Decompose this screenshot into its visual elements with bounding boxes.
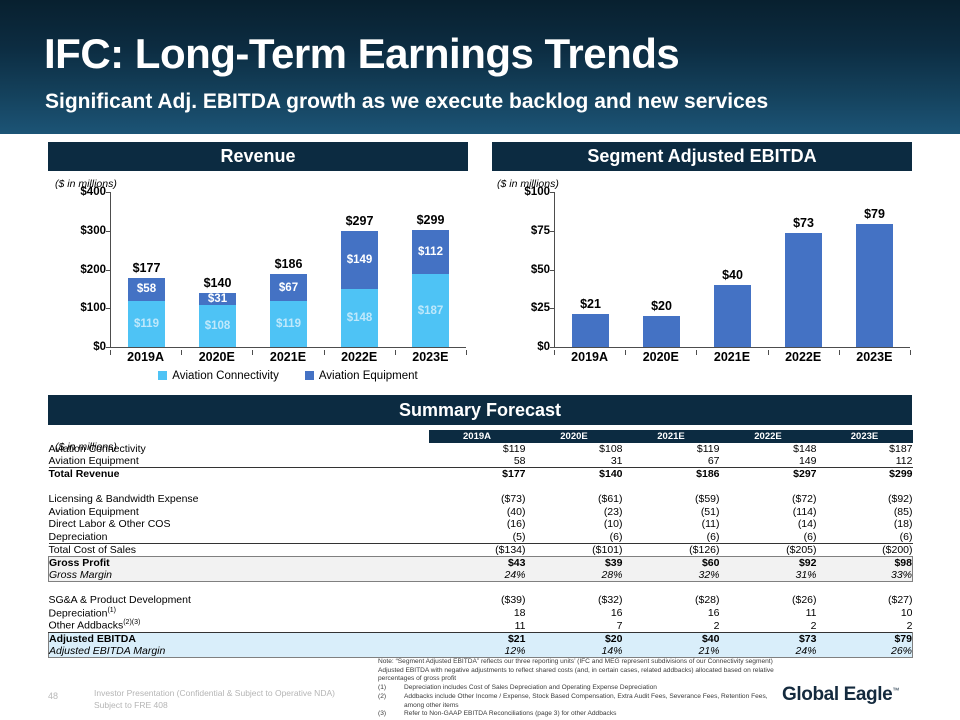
table-cell: (18) bbox=[817, 518, 913, 531]
table-row-label: SG&A & Product Development bbox=[49, 594, 429, 607]
table-cell: 31% bbox=[720, 569, 817, 582]
footnote-item: (1)Depreciation includes Cost of Sales D… bbox=[378, 684, 778, 693]
revenue-bar-segment: $31 bbox=[199, 293, 237, 305]
footnote-text: Depreciation includes Cost of Sales Depr… bbox=[404, 684, 657, 693]
table-spacer-cell bbox=[429, 480, 526, 493]
footer-line-1: Investor Presentation (Confidential & Su… bbox=[94, 687, 335, 699]
table-cell: 31 bbox=[526, 455, 623, 468]
revenue-bar[interactable]: $140$31$108 bbox=[199, 293, 237, 347]
ebitda-x-tick-mark bbox=[768, 350, 769, 355]
revenue-y-tick: $0 bbox=[93, 341, 106, 353]
ebitda-x-axis: 2019A2020E2021E2022E2023E bbox=[554, 350, 910, 368]
revenue-y-tick: $300 bbox=[80, 225, 106, 237]
ebitda-bar-total-label: $40 bbox=[714, 268, 752, 282]
revenue-bar-segment: $149 bbox=[341, 231, 379, 289]
table-row: Licensing & Bandwidth Expense($73)($61)(… bbox=[49, 493, 913, 506]
table-row-label: Gross Margin bbox=[49, 569, 429, 582]
ebitda-x-tick-mark bbox=[910, 350, 911, 355]
table-cell: $297 bbox=[720, 468, 817, 481]
ebitda-y-tick-mark bbox=[550, 231, 555, 232]
ebitda-y-tick: $25 bbox=[531, 302, 550, 314]
ebitda-bar[interactable]: $40 bbox=[714, 285, 752, 347]
table-cell: 7 bbox=[526, 619, 623, 632]
table-cell: 16 bbox=[623, 607, 720, 620]
table-cell: $79 bbox=[817, 632, 913, 645]
table-cell: $108 bbox=[526, 443, 623, 456]
global-eagle-logo: Global Eagle™ bbox=[782, 684, 899, 706]
ebitda-bar-total-label: $73 bbox=[785, 216, 823, 230]
revenue-bar-group: $140$31$108 bbox=[184, 192, 251, 347]
revenue-bar-segment: $67 bbox=[270, 274, 308, 300]
page-title: IFC: Long-Term Earnings Trends bbox=[44, 30, 679, 78]
revenue-bar-segment: $148 bbox=[341, 289, 379, 347]
table-row: SG&A & Product Development($39)($32)($28… bbox=[49, 594, 913, 607]
legend-swatch-icon bbox=[305, 371, 314, 380]
table-row: Aviation Connectivity$119$108$119$148$18… bbox=[49, 443, 913, 456]
table-cell: $98 bbox=[817, 556, 913, 569]
table-header-spacer bbox=[49, 430, 429, 443]
table-row-label: Total Revenue bbox=[49, 468, 429, 481]
ebitda-y-tick: $100 bbox=[524, 186, 550, 198]
table-row: Total Revenue$177$140$186$297$299 bbox=[49, 468, 913, 481]
table-cell: 18 bbox=[429, 607, 526, 620]
revenue-x-tick: 2022E bbox=[325, 350, 393, 368]
logo-trademark: ™ bbox=[892, 688, 899, 695]
table-row: Direct Labor & Other COS(16)(10)(11)(14)… bbox=[49, 518, 913, 531]
table-row-label: Adjusted EBITDA bbox=[49, 632, 429, 645]
revenue-x-tick-mark bbox=[324, 350, 325, 355]
footer-line-2: Subject to FRE 408 bbox=[94, 699, 335, 711]
table-row-label: Total Cost of Sales bbox=[49, 543, 429, 556]
revenue-legend-item[interactable]: Aviation Equipment bbox=[305, 370, 418, 382]
revenue-y-tick-mark bbox=[106, 192, 111, 193]
revenue-x-tick: 2019A bbox=[112, 350, 180, 368]
revenue-x-tick-mark bbox=[466, 350, 467, 355]
table-cell: $119 bbox=[623, 443, 720, 456]
revenue-bar-total-label: $186 bbox=[270, 257, 308, 271]
table-cell: $21 bbox=[429, 632, 526, 645]
table-cell: (14) bbox=[720, 518, 817, 531]
page-subtitle: Significant Adj. EBITDA growth as we exe… bbox=[45, 90, 768, 114]
table-cell: 11 bbox=[429, 619, 526, 632]
revenue-y-tick: $400 bbox=[80, 186, 106, 198]
table-row: Other Addbacks(2)(3)117222 bbox=[49, 619, 913, 632]
table-cell: (6) bbox=[720, 531, 817, 544]
revenue-legend-label: Aviation Equipment bbox=[319, 370, 418, 382]
ebitda-bar-group: $21 bbox=[557, 192, 624, 347]
ebitda-bar-total-label: $79 bbox=[856, 207, 894, 221]
ebitda-y-tick-mark bbox=[550, 308, 555, 309]
footnote-note: Note: “Segment Adjusted EBITDA” reflects… bbox=[378, 658, 778, 684]
table-cell: ($200) bbox=[817, 543, 913, 556]
ebitda-bar-group: $79 bbox=[841, 192, 908, 347]
ebitda-x-tick: 2019A bbox=[556, 350, 624, 368]
table-column-header: 2019A bbox=[429, 430, 526, 443]
table-spacer-cell bbox=[817, 480, 913, 493]
table-cell: (16) bbox=[429, 518, 526, 531]
table-cell: (114) bbox=[720, 506, 817, 519]
table-cell: $20 bbox=[526, 632, 623, 645]
revenue-bar[interactable]: $297$149$148 bbox=[341, 231, 379, 347]
ebitda-x-tick: 2022E bbox=[769, 350, 837, 368]
ebitda-bar-group: $40 bbox=[699, 192, 766, 347]
revenue-bar-group: $297$149$148 bbox=[326, 192, 393, 347]
table-cell: 14% bbox=[526, 645, 623, 658]
revenue-bars: $177$58$119$140$31$108$186$67$119$297$14… bbox=[111, 192, 466, 347]
table-spacer-cell bbox=[720, 480, 817, 493]
table-cell: 10 bbox=[817, 607, 913, 620]
table-cell: 33% bbox=[817, 569, 913, 582]
table-cell: 24% bbox=[429, 569, 526, 582]
revenue-bar-total-label: $140 bbox=[199, 276, 237, 290]
ebitda-x-tick-mark bbox=[625, 350, 626, 355]
logo-text: Global Eagle bbox=[782, 684, 892, 705]
ebitda-x-tick-mark bbox=[696, 350, 697, 355]
revenue-x-tick: 2023E bbox=[397, 350, 465, 368]
summary-forecast-table: 2019A2020E2021E2022E2023EAviation Connec… bbox=[48, 430, 912, 658]
ebitda-bars: $21$20$40$73$79 bbox=[555, 192, 910, 347]
summary-table-body: 2019A2020E2021E2022E2023EAviation Connec… bbox=[49, 430, 913, 658]
table-cell: (51) bbox=[623, 506, 720, 519]
ebitda-chart: $21$20$40$73$79 $0$25$50$75$100 2019A202… bbox=[492, 192, 916, 392]
table-row: Aviation Equipment583167149112 bbox=[49, 455, 913, 468]
table-column-header: 2023E bbox=[817, 430, 913, 443]
ebitda-bar[interactable]: $21 bbox=[572, 314, 610, 347]
footnote-marker: (1) bbox=[107, 607, 116, 614]
page-number: 48 bbox=[48, 691, 58, 701]
revenue-bar[interactable]: $177$58$119 bbox=[128, 278, 166, 347]
table-cell: ($26) bbox=[720, 594, 817, 607]
revenue-bar-segment: $112 bbox=[412, 230, 450, 274]
revenue-x-tick: 2021E bbox=[254, 350, 322, 368]
summary-forecast-title: Summary Forecast bbox=[48, 395, 912, 425]
table-cell: ($28) bbox=[623, 594, 720, 607]
table-spacer-cell bbox=[623, 582, 720, 595]
table-cell: (6) bbox=[526, 531, 623, 544]
revenue-bar-group: $299$112$187 bbox=[397, 192, 464, 347]
table-row-label: Depreciation(1) bbox=[49, 607, 429, 620]
footnote-text: Refer to Non-GAAP EBITDA Reconciliations… bbox=[404, 710, 616, 719]
table-row-label: Gross Profit bbox=[49, 556, 429, 569]
revenue-bar-total-label: $299 bbox=[412, 213, 450, 227]
table-cell: 2 bbox=[817, 619, 913, 632]
footnote-text: Addbacks include Other Income / Expense,… bbox=[404, 693, 778, 710]
revenue-x-axis: 2019A2020E2021E2022E2023E bbox=[110, 350, 466, 368]
table-cell: 26% bbox=[817, 645, 913, 658]
table-column-header: 2021E bbox=[623, 430, 720, 443]
table-row: Aviation Equipment(40)(23)(51)(114)(85) bbox=[49, 506, 913, 519]
ebitda-y-tick: $0 bbox=[537, 341, 550, 353]
revenue-x-tick-mark bbox=[395, 350, 396, 355]
table-cell: ($61) bbox=[526, 493, 623, 506]
table-row-label: Licensing & Bandwidth Expense bbox=[49, 493, 429, 506]
table-cell: 28% bbox=[526, 569, 623, 582]
ebitda-y-tick-mark bbox=[550, 192, 555, 193]
table-cell: $40 bbox=[623, 632, 720, 645]
table-cell: ($32) bbox=[526, 594, 623, 607]
ebitda-bar[interactable]: $79 bbox=[856, 224, 894, 347]
table-cell: 112 bbox=[817, 455, 913, 468]
table-cell: (40) bbox=[429, 506, 526, 519]
ebitda-bar-segment bbox=[856, 224, 894, 347]
table-row: Adjusted EBITDA$21$20$40$73$79 bbox=[49, 632, 913, 645]
ebitda-plot-area: $21$20$40$73$79 $0$25$50$75$100 bbox=[554, 192, 910, 348]
footnote-number: (1) bbox=[378, 684, 404, 693]
table-cell: $92 bbox=[720, 556, 817, 569]
table-cell: ($92) bbox=[817, 493, 913, 506]
table-cell: ($72) bbox=[720, 493, 817, 506]
ebitda-y-tick-mark bbox=[550, 347, 555, 348]
revenue-plot-area: $177$58$119$140$31$108$186$67$119$297$14… bbox=[110, 192, 466, 348]
ebitda-x-tick: 2023E bbox=[841, 350, 909, 368]
table-spacer-row bbox=[49, 480, 913, 493]
ebitda-bar-total-label: $20 bbox=[643, 299, 681, 313]
revenue-bar-group: $177$58$119 bbox=[113, 192, 180, 347]
table-cell: ($134) bbox=[429, 543, 526, 556]
revenue-legend-label: Aviation Connectivity bbox=[172, 370, 279, 382]
revenue-bar-total-label: $297 bbox=[341, 214, 379, 228]
ebitda-y-tick: $75 bbox=[531, 225, 550, 237]
revenue-bar-segment: $119 bbox=[128, 301, 166, 347]
ebitda-bar-group: $20 bbox=[628, 192, 695, 347]
table-cell: (10) bbox=[526, 518, 623, 531]
table-cell: $43 bbox=[429, 556, 526, 569]
table-cell: ($101) bbox=[526, 543, 623, 556]
revenue-bar-segment: $58 bbox=[128, 278, 166, 301]
revenue-bar[interactable]: $299$112$187 bbox=[412, 230, 450, 347]
table-cell: $119 bbox=[429, 443, 526, 456]
table-row: Gross Margin24%28%32%31%33% bbox=[49, 569, 913, 582]
revenue-y-tick-mark bbox=[106, 270, 111, 271]
ebitda-bar-segment bbox=[785, 233, 823, 347]
revenue-bar-segment: $119 bbox=[270, 301, 308, 347]
table-spacer-cell bbox=[526, 582, 623, 595]
table-cell: 12% bbox=[429, 645, 526, 658]
ebitda-x-tick: 2020E bbox=[627, 350, 695, 368]
table-cell: (85) bbox=[817, 506, 913, 519]
table-cell: 32% bbox=[623, 569, 720, 582]
table-cell: ($27) bbox=[817, 594, 913, 607]
table-cell: $186 bbox=[623, 468, 720, 481]
table-cell: 11 bbox=[720, 607, 817, 620]
ebitda-bar-segment bbox=[714, 285, 752, 347]
table-cell: $73 bbox=[720, 632, 817, 645]
revenue-bar-total-label: $177 bbox=[128, 261, 166, 275]
revenue-x-tick: 2020E bbox=[183, 350, 251, 368]
ebitda-x-tick: 2021E bbox=[698, 350, 766, 368]
table-cell: 21% bbox=[623, 645, 720, 658]
table-column-header: 2022E bbox=[720, 430, 817, 443]
ebitda-bar-group: $73 bbox=[770, 192, 837, 347]
table-spacer-cell bbox=[817, 582, 913, 595]
table-cell: 58 bbox=[429, 455, 526, 468]
table-cell: $39 bbox=[526, 556, 623, 569]
ebitda-x-tick-mark bbox=[554, 350, 555, 355]
table-cell: (5) bbox=[429, 531, 526, 544]
table-spacer-cell bbox=[623, 480, 720, 493]
revenue-panel-title: Revenue bbox=[48, 142, 468, 171]
revenue-bar[interactable]: $186$67$119 bbox=[270, 274, 308, 347]
table-cell: $299 bbox=[817, 468, 913, 481]
footnote-item: (3)Refer to Non-GAAP EBITDA Reconciliati… bbox=[378, 710, 778, 719]
revenue-chart: $177$58$119$140$31$108$186$67$119$297$14… bbox=[48, 192, 472, 392]
revenue-x-tick-mark bbox=[181, 350, 182, 355]
footnote-number: (3) bbox=[378, 710, 404, 719]
revenue-bar-segment: $108 bbox=[199, 305, 237, 347]
footnotes: Note: “Segment Adjusted EBITDA” reflects… bbox=[378, 658, 778, 719]
footnote-item: (2)Addbacks include Other Income / Expen… bbox=[378, 693, 778, 710]
table-cell: (23) bbox=[526, 506, 623, 519]
table-cell: $177 bbox=[429, 468, 526, 481]
table-cell: 67 bbox=[623, 455, 720, 468]
table-row-label: Adjusted EBITDA Margin bbox=[49, 645, 429, 658]
revenue-y-tick-mark bbox=[106, 308, 111, 309]
ebitda-x-tick-mark bbox=[839, 350, 840, 355]
legend-swatch-icon bbox=[158, 371, 167, 380]
table-row-label: Aviation Equipment bbox=[49, 506, 429, 519]
revenue-y-tick-mark bbox=[106, 347, 111, 348]
table-row: Adjusted EBITDA Margin12%14%21%24%26% bbox=[49, 645, 913, 658]
table-cell: $140 bbox=[526, 468, 623, 481]
footnote-marker: (2)(3) bbox=[123, 619, 140, 626]
table-header-row: 2019A2020E2021E2022E2023E bbox=[49, 430, 913, 443]
table-row-label: Aviation Connectivity bbox=[49, 443, 429, 456]
table-spacer-cell bbox=[429, 582, 526, 595]
table-row-label: Direct Labor & Other COS bbox=[49, 518, 429, 531]
revenue-x-tick-mark bbox=[110, 350, 111, 355]
table-column-header: 2020E bbox=[526, 430, 623, 443]
ebitda-bar[interactable]: $73 bbox=[785, 233, 823, 347]
table-row-label: Depreciation bbox=[49, 531, 429, 544]
ebitda-y-tick-mark bbox=[550, 270, 555, 271]
table-spacer-cell bbox=[49, 480, 429, 493]
ebitda-bar-segment bbox=[643, 316, 681, 347]
table-spacer-cell bbox=[720, 582, 817, 595]
table-cell: $187 bbox=[817, 443, 913, 456]
table-cell: ($126) bbox=[623, 543, 720, 556]
footer-confidentiality: Investor Presentation (Confidential & Su… bbox=[94, 687, 335, 712]
ebitda-bar-segment bbox=[572, 314, 610, 347]
revenue-x-tick-mark bbox=[252, 350, 253, 355]
table-cell: (11) bbox=[623, 518, 720, 531]
ebitda-bar-total-label: $21 bbox=[572, 297, 610, 311]
footnote-items: (1)Depreciation includes Cost of Sales D… bbox=[378, 684, 778, 719]
table-row: Depreciation(1)1816161110 bbox=[49, 607, 913, 620]
table-row: Depreciation(5)(6)(6)(6)(6) bbox=[49, 531, 913, 544]
revenue-y-tick: $100 bbox=[80, 302, 106, 314]
table-cell: (6) bbox=[817, 531, 913, 544]
table-cell: $60 bbox=[623, 556, 720, 569]
table-row-label: Aviation Equipment bbox=[49, 455, 429, 468]
table-spacer-cell bbox=[49, 582, 429, 595]
revenue-bar-segment: $187 bbox=[412, 274, 450, 347]
table-cell: ($73) bbox=[429, 493, 526, 506]
table-cell: 2 bbox=[720, 619, 817, 632]
table-cell: ($205) bbox=[720, 543, 817, 556]
table-cell: ($59) bbox=[623, 493, 720, 506]
ebitda-y-tick: $50 bbox=[531, 264, 550, 276]
table-cell: (6) bbox=[623, 531, 720, 544]
footnote-number: (2) bbox=[378, 693, 404, 710]
table-cell: ($39) bbox=[429, 594, 526, 607]
revenue-y-tick: $200 bbox=[80, 264, 106, 276]
revenue-legend: Aviation ConnectivityAviation Equipment bbox=[110, 370, 466, 382]
revenue-bar-group: $186$67$119 bbox=[255, 192, 322, 347]
table-cell: 24% bbox=[720, 645, 817, 658]
table-spacer-cell bbox=[526, 480, 623, 493]
revenue-y-tick-mark bbox=[106, 231, 111, 232]
table-cell: 2 bbox=[623, 619, 720, 632]
table-spacer-row bbox=[49, 582, 913, 595]
ebitda-bar[interactable]: $20 bbox=[643, 316, 681, 347]
table-cell: 16 bbox=[526, 607, 623, 620]
revenue-legend-item[interactable]: Aviation Connectivity bbox=[158, 370, 279, 382]
table-cell: 149 bbox=[720, 455, 817, 468]
table-row: Gross Profit$43$39$60$92$98 bbox=[49, 556, 913, 569]
ebitda-panel-title: Segment Adjusted EBITDA bbox=[492, 142, 912, 171]
table-row-label: Other Addbacks(2)(3) bbox=[49, 619, 429, 632]
table-cell: $148 bbox=[720, 443, 817, 456]
table-row: Total Cost of Sales($134)($101)($126)($2… bbox=[49, 543, 913, 556]
